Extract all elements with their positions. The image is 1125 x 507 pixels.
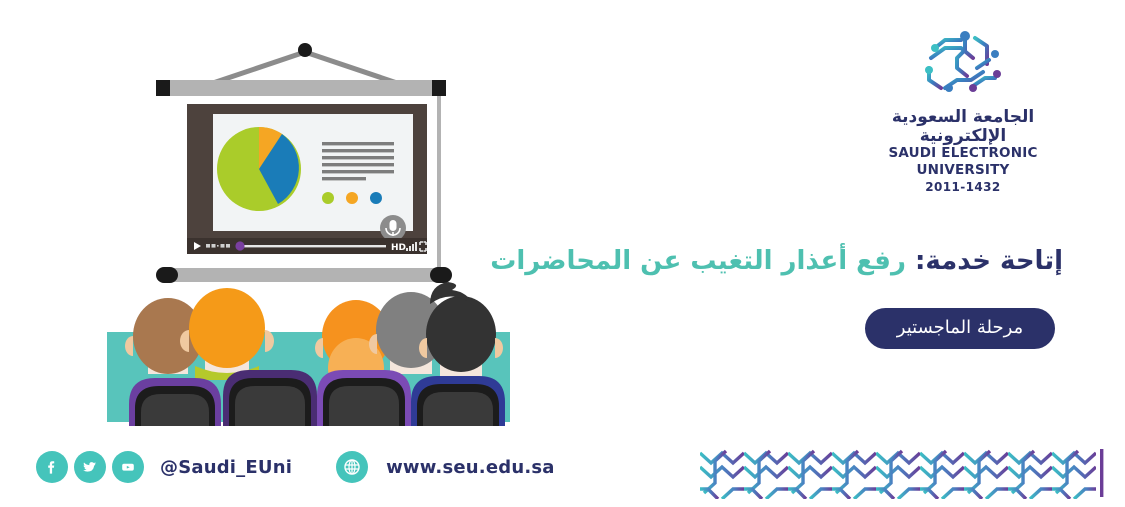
chair-1 xyxy=(129,378,221,426)
headline-lead: إتاحة خدمة: xyxy=(915,246,1063,276)
video-player-controls[interactable]: HD xyxy=(187,238,427,254)
social-handle: @Saudi_EUni xyxy=(160,457,292,478)
university-logo: الجامعة السعودية الإلكترونية SAUDI ELECT… xyxy=(863,24,1063,195)
headline-rest: رفع أعذار التغيب عن المحاضرات xyxy=(490,246,906,276)
hexagon-circuit-icon xyxy=(915,24,1011,102)
microphone-icon[interactable] xyxy=(380,215,406,241)
ceiling-mount-dot xyxy=(298,43,312,57)
chart-legend xyxy=(322,192,382,204)
logo-name-english: SAUDI ELECTRONIC UNIVERSITY xyxy=(863,145,1063,179)
lecture-hall-projector-illustration: HD xyxy=(100,36,520,426)
progress-scrubber xyxy=(235,241,244,250)
globe-icon[interactable] xyxy=(336,451,368,483)
progress-track xyxy=(240,245,386,247)
facebook-icon[interactable] xyxy=(36,451,68,483)
circuit-pattern-decoration xyxy=(700,443,1110,499)
twitter-icon[interactable] xyxy=(74,451,106,483)
hd-label: HD xyxy=(391,243,406,253)
screen-top-bar xyxy=(156,80,446,96)
screen-support-pole xyxy=(437,88,441,278)
legend-dot-blue xyxy=(370,192,382,204)
page-title: إتاحة خدمة: رفع أعذار التغيب عن المحاضرا… xyxy=(490,246,1063,276)
screen-bottom-bar xyxy=(156,267,452,283)
chair-4 xyxy=(411,376,505,426)
website-url: www.seu.edu.sa xyxy=(386,457,555,478)
logo-year: 2011-1432 xyxy=(863,179,1063,195)
projector-hanging-wires xyxy=(210,43,400,84)
chair-2 xyxy=(223,370,317,426)
website-group[interactable]: www.seu.edu.sa xyxy=(336,451,555,483)
legend-dot-green xyxy=(322,192,334,204)
footer-contact-bar: @Saudi_EUni www.seu.edu.sa xyxy=(36,448,555,486)
logo-name-arabic: الجامعة السعودية الإلكترونية xyxy=(863,108,1063,145)
youtube-icon[interactable] xyxy=(112,451,144,483)
pie-chart xyxy=(217,127,301,211)
projected-video: HD xyxy=(187,104,427,254)
legend-dot-orange xyxy=(346,192,358,204)
chair-3 xyxy=(317,370,411,426)
program-stage-button[interactable]: مرحلة الماجستير xyxy=(865,308,1055,349)
